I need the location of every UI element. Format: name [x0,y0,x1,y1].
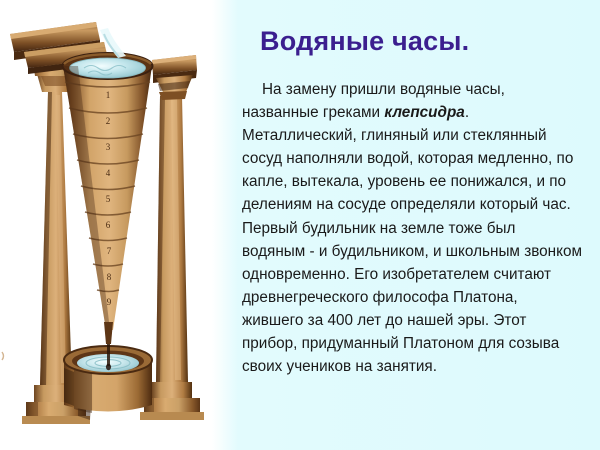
water-clock-illustration: 1 2 3 4 5 6 7 8 9 [0,0,230,450]
svg-text:2: 2 [106,116,111,126]
svg-text:4: 4 [106,168,111,178]
svg-text:8: 8 [107,272,112,282]
lower-catch-bowl [64,344,152,413]
svg-text:7: 7 [107,246,112,256]
text-panel: Водяные часы. На замену пришли водяные ч… [212,0,600,450]
water-clock-svg: 1 2 3 4 5 6 7 8 9 [0,0,230,450]
svg-text:5: 5 [106,194,111,204]
stray-speck [2,352,4,360]
conical-vessel: 1 2 3 4 5 6 7 8 9 [63,53,153,344]
keyword-klepsydra: клепсидра [384,104,464,121]
svg-text:3: 3 [106,142,111,152]
body-text-part2: . Металлический, глиняный или стеклянный… [242,104,582,375]
svg-text:9: 9 [107,297,112,307]
slide-canvas: 1 2 3 4 5 6 7 8 9 [0,0,600,450]
page-title: Водяные часы. [260,26,469,57]
svg-text:1: 1 [106,90,111,100]
svg-text:6: 6 [106,220,111,230]
body-paragraph: На замену пришли водяные часы, названные… [242,78,582,378]
